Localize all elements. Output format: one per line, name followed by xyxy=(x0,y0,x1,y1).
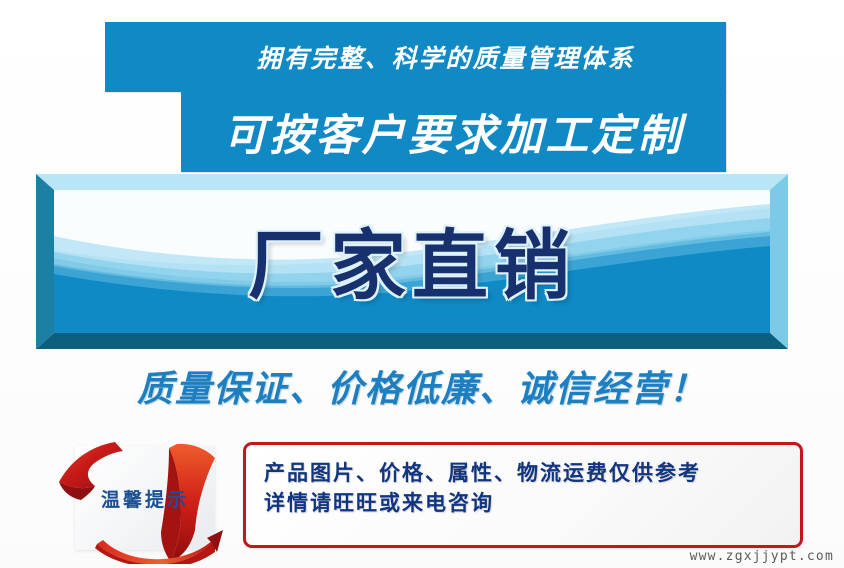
top-blue-block: 拥有完整、科学的质量管理体系 可按客户要求加工定制 xyxy=(105,22,726,172)
site-watermark: www.zgxjjypt.com xyxy=(690,549,834,564)
slogan-text: 质量保证、价格低廉、诚信经营！ xyxy=(0,360,844,412)
headline-custom-manufacturing: 可按客户要求加工定制 xyxy=(181,91,726,172)
ribbon-badge: 温馨提示 xyxy=(55,434,255,564)
notice-line-1: 产品图片、价格、属性、物流运费仅供参考 xyxy=(264,459,786,489)
promo-banner-canvas: 拥有完整、科学的质量管理体系 可按客户要求加工定制 xyxy=(0,0,844,568)
notice-line-2: 详情请旺旺或来电咨询 xyxy=(264,489,786,519)
notice-section: 温馨提示 产品图片、价格、属性、物流运费仅供参考 详情请旺旺或来电咨询 www.… xyxy=(0,432,844,568)
panel-title-factory-direct: 厂家直销 xyxy=(36,174,788,349)
headline-quality-system: 拥有完整、科学的质量管理体系 xyxy=(105,22,726,92)
main-blue-panel: 厂家直销 xyxy=(36,174,788,349)
ribbon-label-warm-reminder: 温馨提示 xyxy=(75,446,215,550)
notice-red-box: 产品图片、价格、属性、物流运费仅供参考 详情请旺旺或来电咨询 xyxy=(243,442,803,548)
notice-text-block: 产品图片、价格、属性、物流运费仅供参考 详情请旺旺或来电咨询 xyxy=(264,459,786,519)
